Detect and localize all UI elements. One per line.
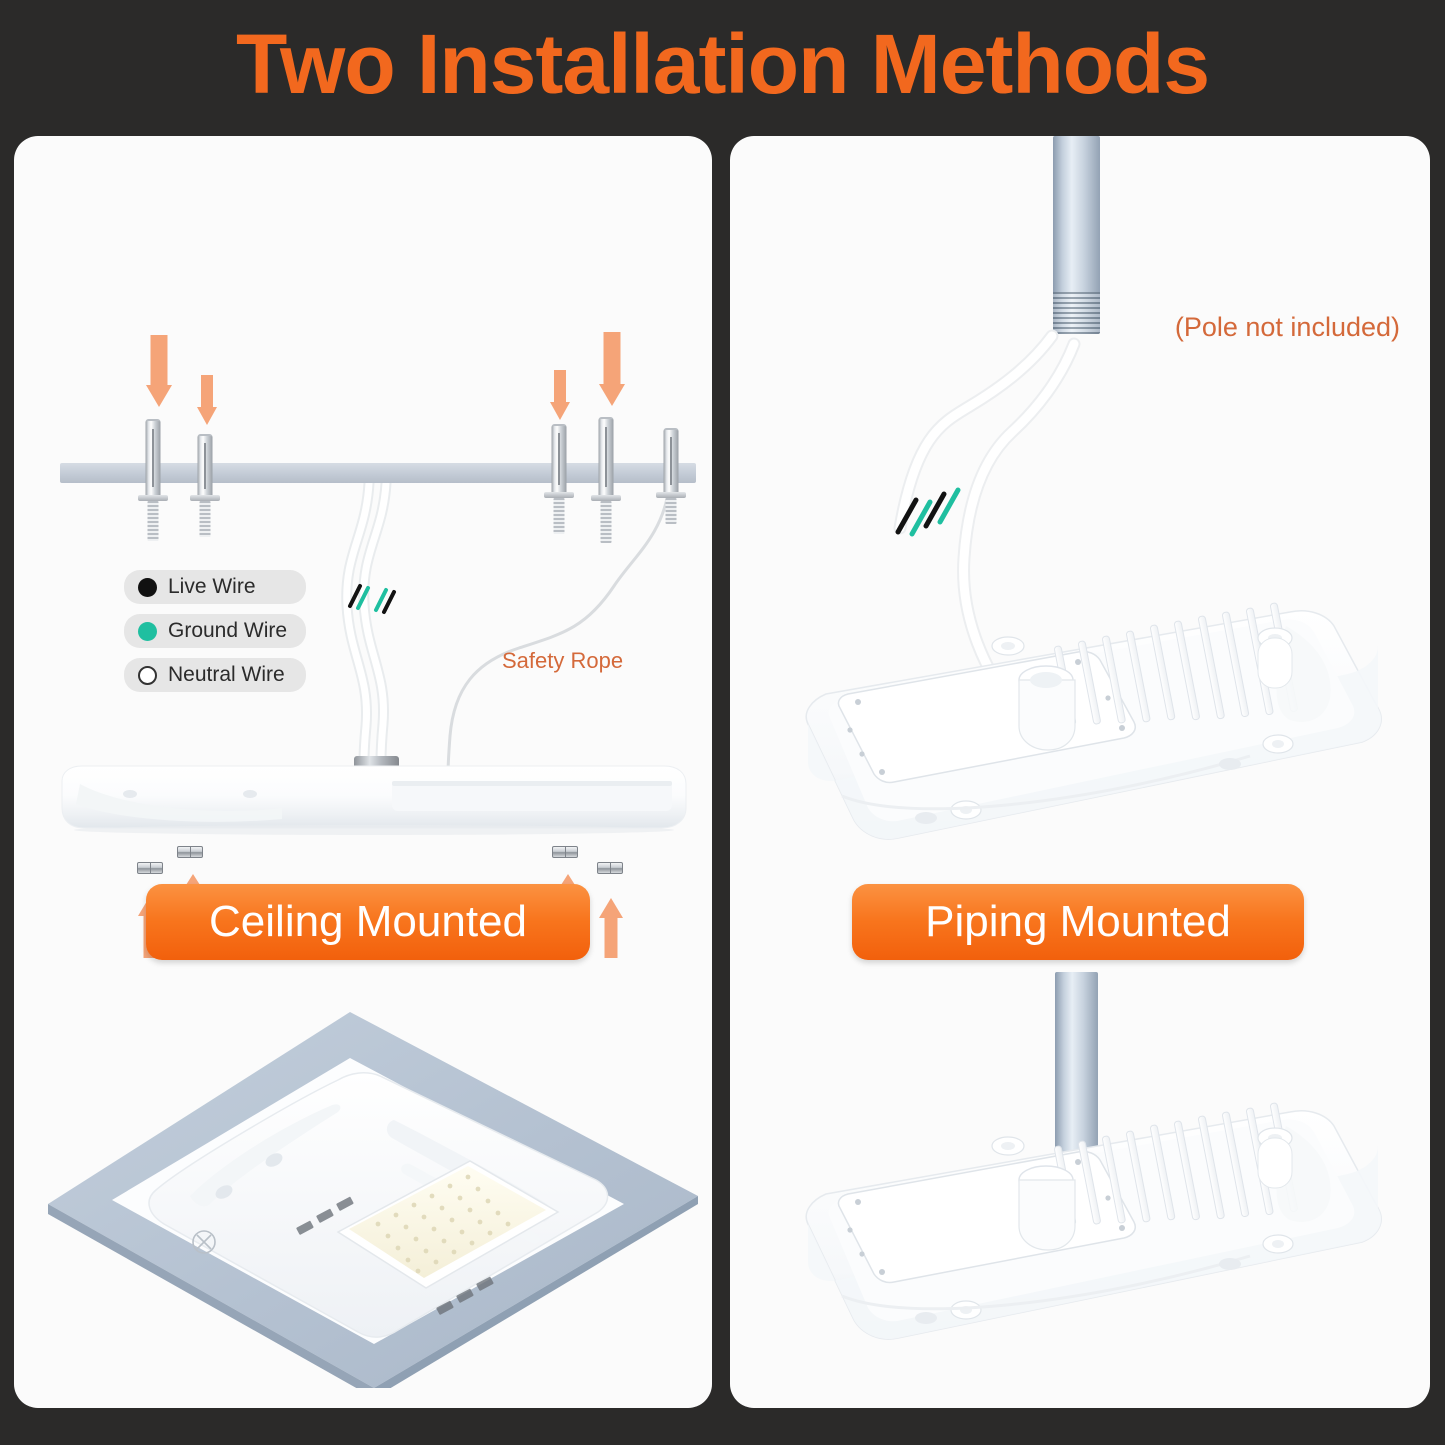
legend-item-neutral-wire: Neutral Wire (124, 658, 306, 692)
ceiling-installed-view (38, 988, 698, 1388)
fixture-top-view-installed (806, 1103, 1381, 1339)
badge-ceiling-mounted[interactable]: Ceiling Mounted (146, 884, 590, 960)
mount-clip (552, 846, 578, 858)
filled-circle-icon (138, 622, 157, 641)
badge-label: Piping Mounted (925, 897, 1231, 947)
arrow-down-icon (596, 332, 628, 406)
fixture-side-profile (62, 766, 686, 835)
title-bar: Two Installation Methods (0, 0, 1445, 128)
safety-rope-label: Safety Rope (502, 648, 623, 674)
legend-item-ground-wire: Ground Wire (124, 614, 306, 648)
piping-installed-view (730, 1046, 1430, 1408)
legend-label: Neutral Wire (168, 663, 285, 687)
mount-clip (177, 846, 203, 858)
wire-bundle (347, 483, 386, 762)
arrow-down-icon (143, 335, 175, 407)
panel-piping-mounted: (Pole not included) (730, 136, 1430, 1408)
outline-circle-icon (138, 666, 157, 685)
panel-ceiling-mounted: Live Wire Ground Wire Neutral Wire Safet… (14, 136, 712, 1408)
fixture-top-view (806, 603, 1381, 839)
legend-label: Live Wire (168, 575, 256, 599)
legend-item-live-wire: Live Wire (124, 570, 306, 604)
mount-clip (597, 862, 623, 874)
conduit-entry-fitting (1019, 666, 1075, 750)
page-title: Two Installation Methods (236, 22, 1209, 106)
legend-label: Ground Wire (168, 619, 287, 643)
wire-conductor-tips (350, 586, 394, 612)
arrow-down-icon (194, 375, 220, 429)
conduit-entry-fitting (1019, 1166, 1075, 1250)
badge-piping-mounted[interactable]: Piping Mounted (852, 884, 1304, 960)
arrow-down-icon (547, 370, 573, 424)
badge-label: Ceiling Mounted (209, 897, 527, 947)
conduit-pole (1053, 136, 1100, 334)
wire-legend: Live Wire Ground Wire Neutral Wire (124, 570, 306, 702)
piping-exploded-diagram (730, 326, 1430, 966)
filled-circle-icon (138, 578, 157, 597)
mount-clip (137, 862, 163, 874)
arrow-up-icon (597, 898, 625, 958)
